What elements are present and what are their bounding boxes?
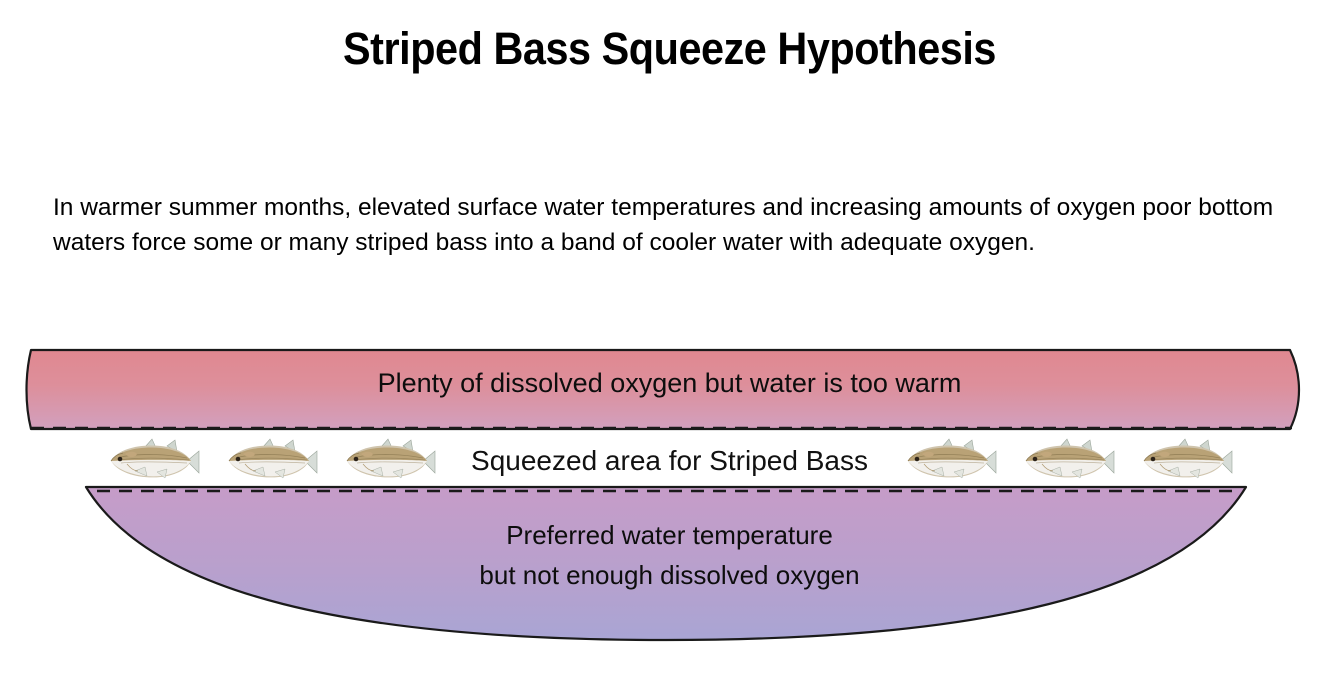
striped-bass-fish-icon	[341, 438, 437, 484]
intro-paragraph: In warmer summer months, elevated surfac…	[53, 190, 1293, 260]
diagram-shapes	[0, 330, 1339, 660]
cool-water-band	[86, 487, 1246, 640]
squeeze-diagram: Plenty of dissolved oxygen but water is …	[0, 330, 1339, 660]
fish-group-left	[105, 438, 459, 484]
striped-bass-fish-icon	[105, 438, 201, 484]
page-title: Striped Bass Squeeze Hypothesis	[54, 23, 1286, 75]
squeezed-area-label: Squeezed area for Striped Bass	[459, 445, 880, 477]
striped-bass-fish-icon	[902, 438, 998, 484]
striped-bass-fish-icon	[1138, 438, 1234, 484]
warm-water-band	[27, 350, 1300, 429]
fish-group-right	[880, 438, 1234, 484]
striped-bass-fish-icon	[223, 438, 319, 484]
striped-bass-fish-icon	[1020, 438, 1116, 484]
squeezed-area-row: Squeezed area for Striped Bass	[0, 432, 1339, 490]
